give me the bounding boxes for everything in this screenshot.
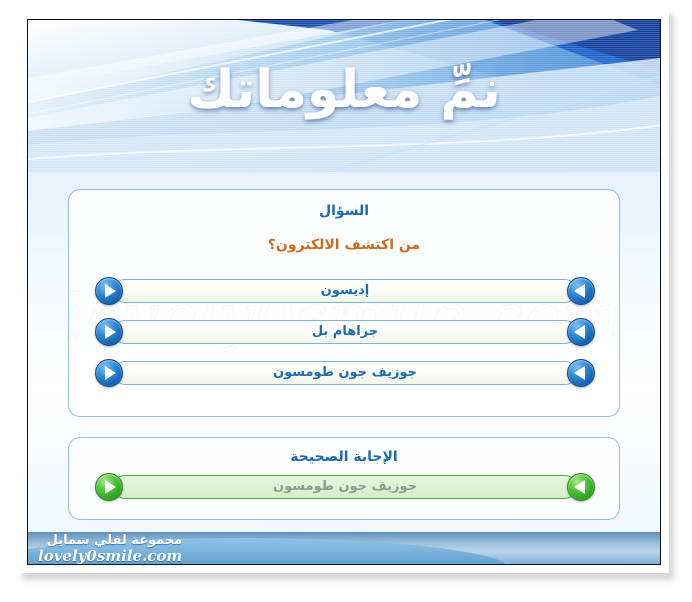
page-root: نمِّ معلوماتك lovely0smile.com السؤال من… <box>0 0 692 602</box>
quiz-body: lovely0smile.com السؤال من اكتشف الالكتر… <box>28 172 660 532</box>
answer-panel-title: الإجابة الصحيحة <box>69 449 619 465</box>
option-pill[interactable]: إديسون <box>113 279 577 303</box>
option-row[interactable]: جوزيف جون طومسون <box>95 359 595 387</box>
back-arrow-icon[interactable] <box>567 318 595 346</box>
site-logo: نمِّ معلوماتك <box>28 60 660 120</box>
header-banner: نمِّ معلوماتك <box>28 20 660 172</box>
footer-branding: مجموعة لفلي سمايل lovely0smile.com <box>38 533 182 564</box>
content-frame: نمِّ معلوماتك lovely0smile.com السؤال من… <box>27 19 661 565</box>
answer-label: جوزيف جون طومسون <box>114 479 576 494</box>
answer-row[interactable]: جوزيف جون طومسون <box>95 473 595 501</box>
back-arrow-icon[interactable] <box>567 359 595 387</box>
option-row[interactable]: جراهام بل <box>95 318 595 346</box>
question-text: من اكتشف الالكترون؟ <box>69 237 619 253</box>
option-label: جوزيف جون طومسون <box>114 365 576 380</box>
option-row[interactable]: إديسون <box>95 277 595 305</box>
option-pill[interactable]: جراهام بل <box>113 320 577 344</box>
question-panel-title: السؤال <box>69 203 619 219</box>
back-arrow-icon[interactable] <box>567 277 595 305</box>
footer-url[interactable]: lovely0smile.com <box>38 548 182 564</box>
play-arrow-icon[interactable] <box>95 277 123 305</box>
option-label: جراهام بل <box>114 324 576 339</box>
play-arrow-icon[interactable] <box>95 473 123 501</box>
back-arrow-icon[interactable] <box>567 473 595 501</box>
question-panel: السؤال من اكتشف الالكترون؟ إديسون <box>68 189 620 417</box>
answer-pill[interactable]: جوزيف جون طومسون <box>113 475 577 499</box>
footer-banner: مجموعة لفلي سمايل lovely0smile.com <box>28 532 660 564</box>
play-arrow-icon[interactable] <box>95 359 123 387</box>
option-pill[interactable]: جوزيف جون طومسون <box>113 361 577 385</box>
answer-panel: الإجابة الصحيحة جوزيف جون طومسون <box>68 437 620 520</box>
footer-arabic-text: مجموعة لفلي سمايل <box>38 533 182 548</box>
option-label: إديسون <box>114 283 576 298</box>
play-arrow-icon[interactable] <box>95 318 123 346</box>
